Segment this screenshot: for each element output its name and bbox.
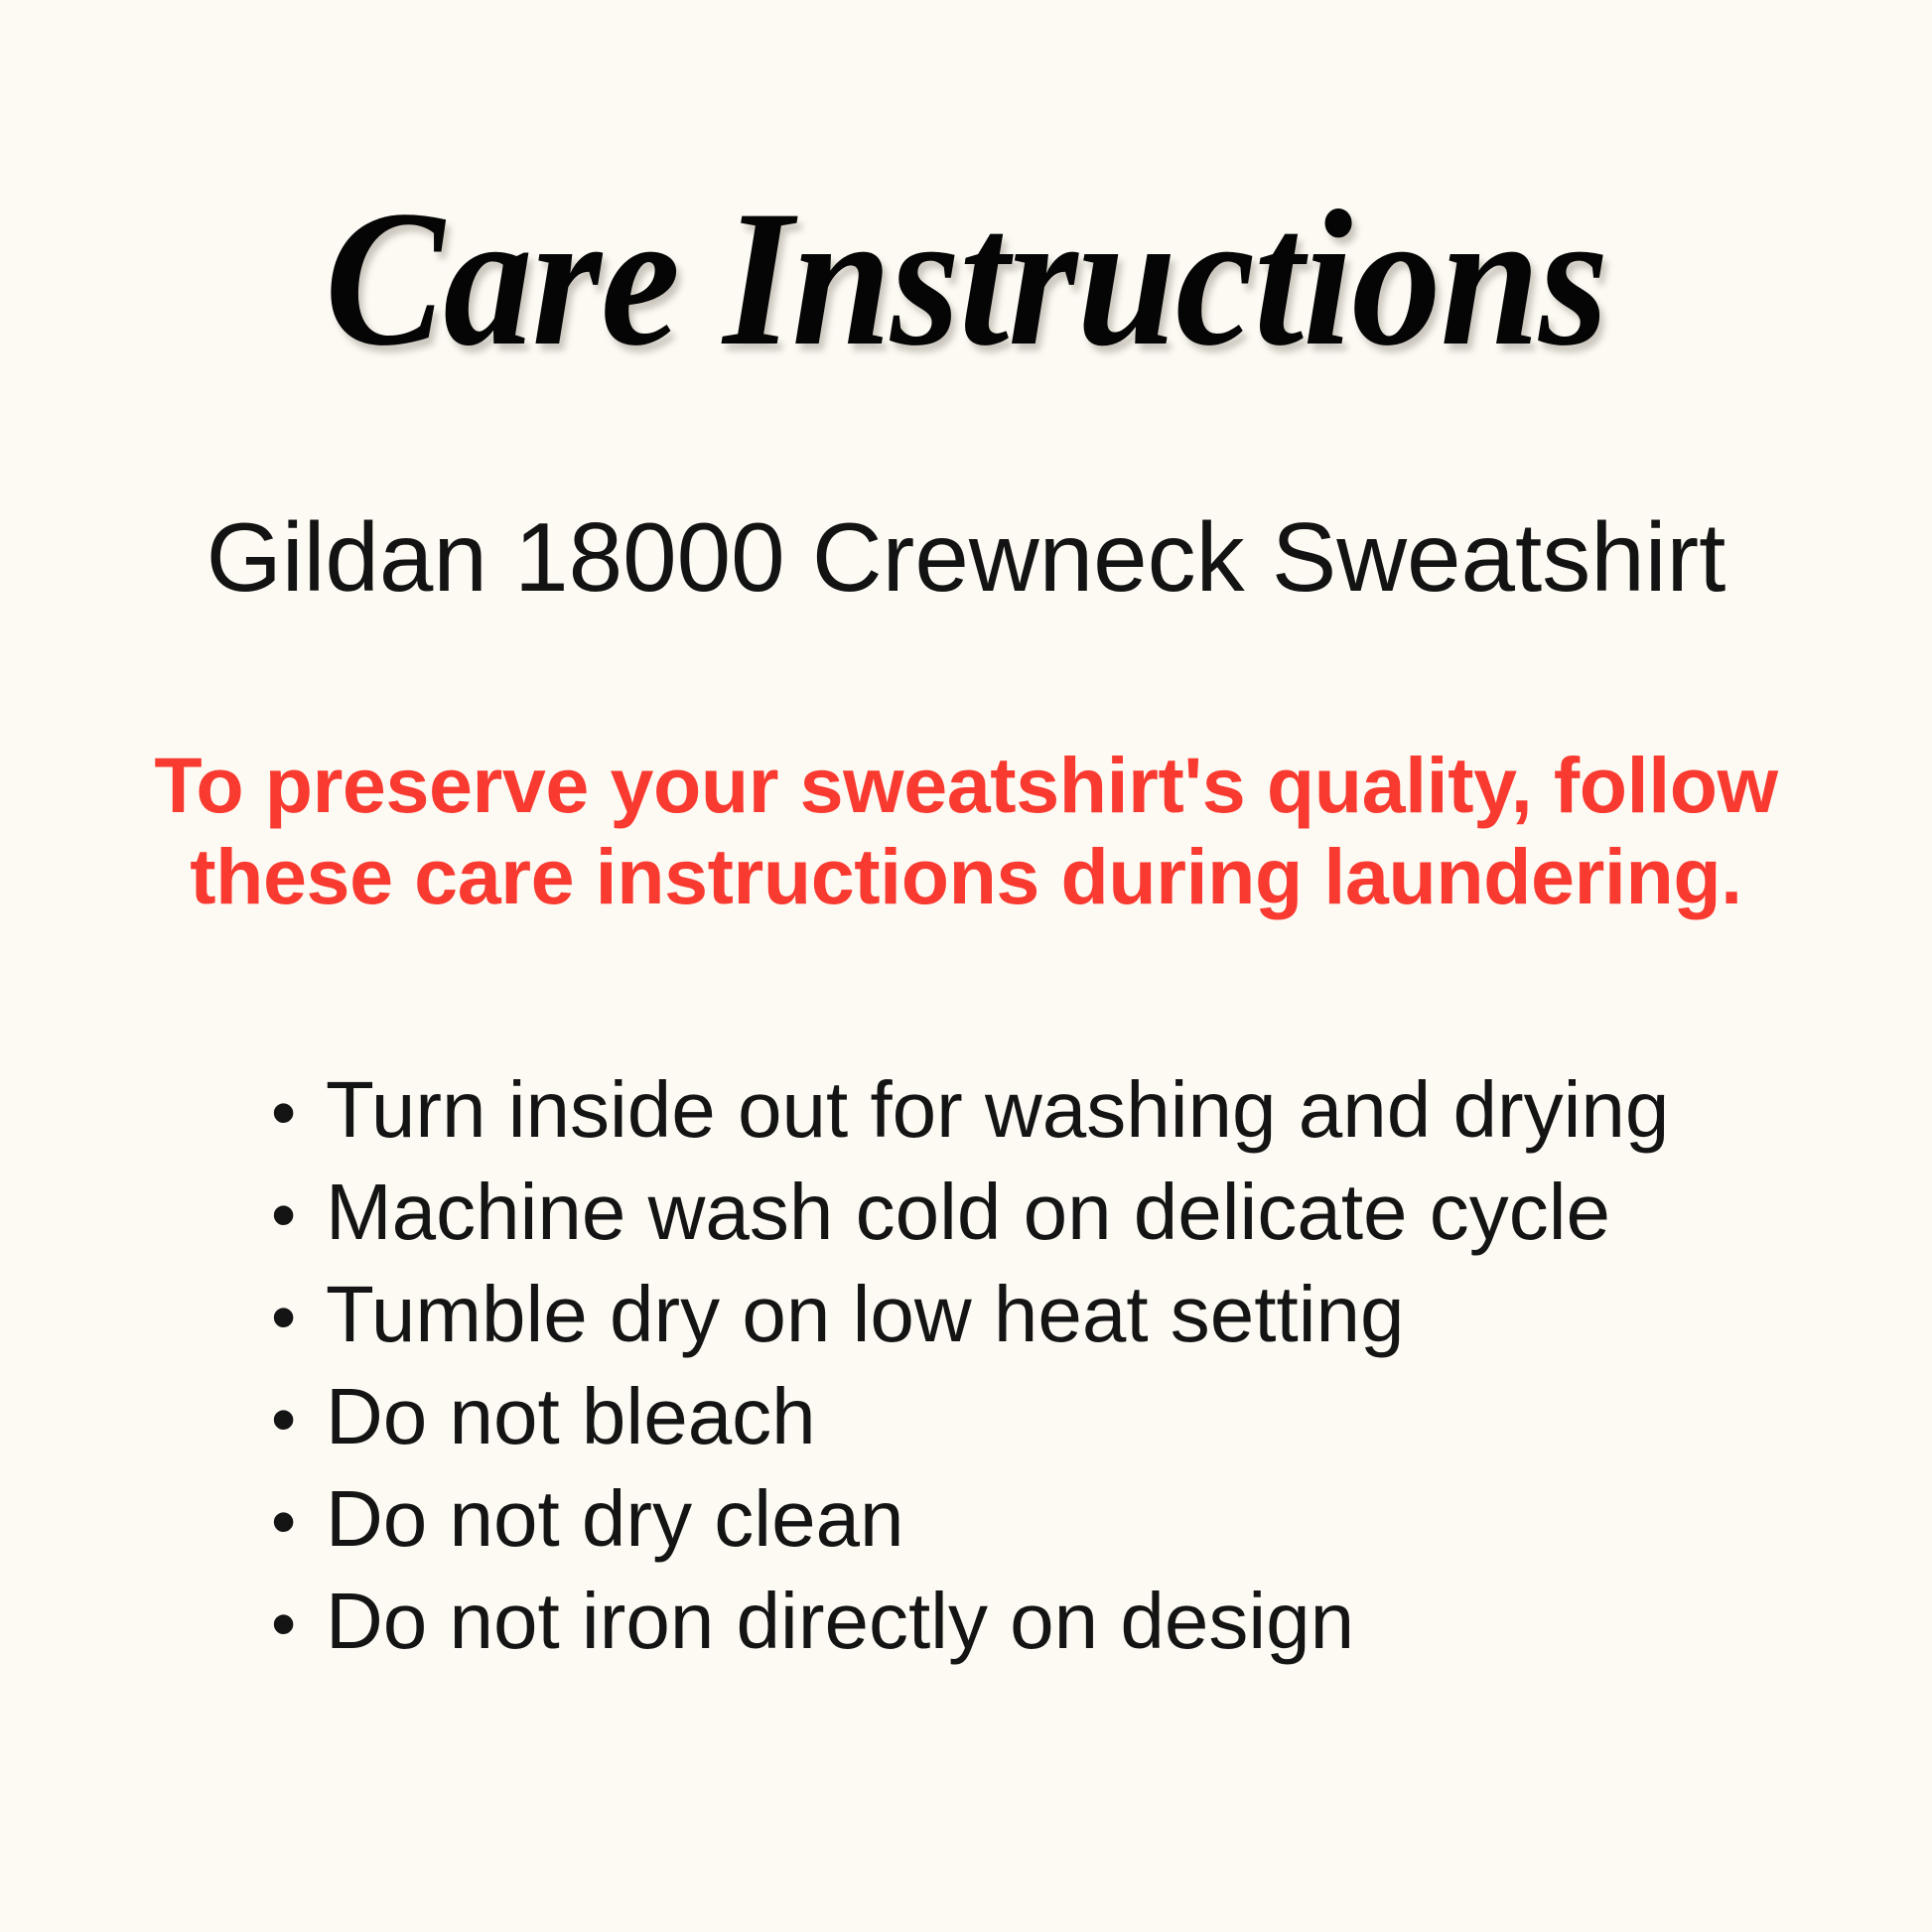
highlight-text: To preserve your sweatshirt's quality, f… (89, 740, 1843, 923)
highlight-container: To preserve your sweatshirt's quality, f… (0, 740, 1932, 923)
care-list: • Turn inside out for washing and drying… (271, 1060, 1661, 1674)
list-item: • Turn inside out for washing and drying (271, 1060, 1661, 1163)
page-title-container: Care Instructions (0, 177, 1932, 381)
list-item-label: Tumble dry on low heat setting (326, 1265, 1404, 1364)
list-item: • Do not dry clean (271, 1469, 1661, 1572)
product-subtitle-container: Gildan 18000 Crewneck Sweatshirt (0, 501, 1932, 614)
care-instructions-card: Care Instructions Gildan 18000 Crewneck … (0, 0, 1932, 1932)
page-title: Care Instructions (325, 177, 1607, 381)
list-item: • Do not iron directly on design (271, 1572, 1661, 1674)
bullet-icon: • (271, 1166, 326, 1265)
list-item: • Tumble dry on low heat setting (271, 1265, 1661, 1367)
list-item: • Machine wash cold on delicate cycle (271, 1163, 1661, 1265)
list-item-label: Turn inside out for washing and drying (326, 1060, 1669, 1160)
care-list-container: • Turn inside out for washing and drying… (0, 1060, 1932, 1674)
list-item-label: Machine wash cold on delicate cycle (326, 1163, 1610, 1262)
bullet-icon: • (271, 1370, 326, 1469)
list-item-label: Do not dry clean (326, 1469, 904, 1569)
bullet-icon: • (271, 1575, 326, 1674)
bullet-icon: • (271, 1268, 326, 1367)
bullet-icon: • (271, 1472, 326, 1572)
list-item-label: Do not bleach (326, 1367, 816, 1466)
list-item: • Do not bleach (271, 1367, 1661, 1469)
bullet-icon: • (271, 1063, 326, 1163)
product-subtitle: Gildan 18000 Crewneck Sweatshirt (207, 501, 1726, 614)
list-item-label: Do not iron directly on design (326, 1572, 1354, 1671)
